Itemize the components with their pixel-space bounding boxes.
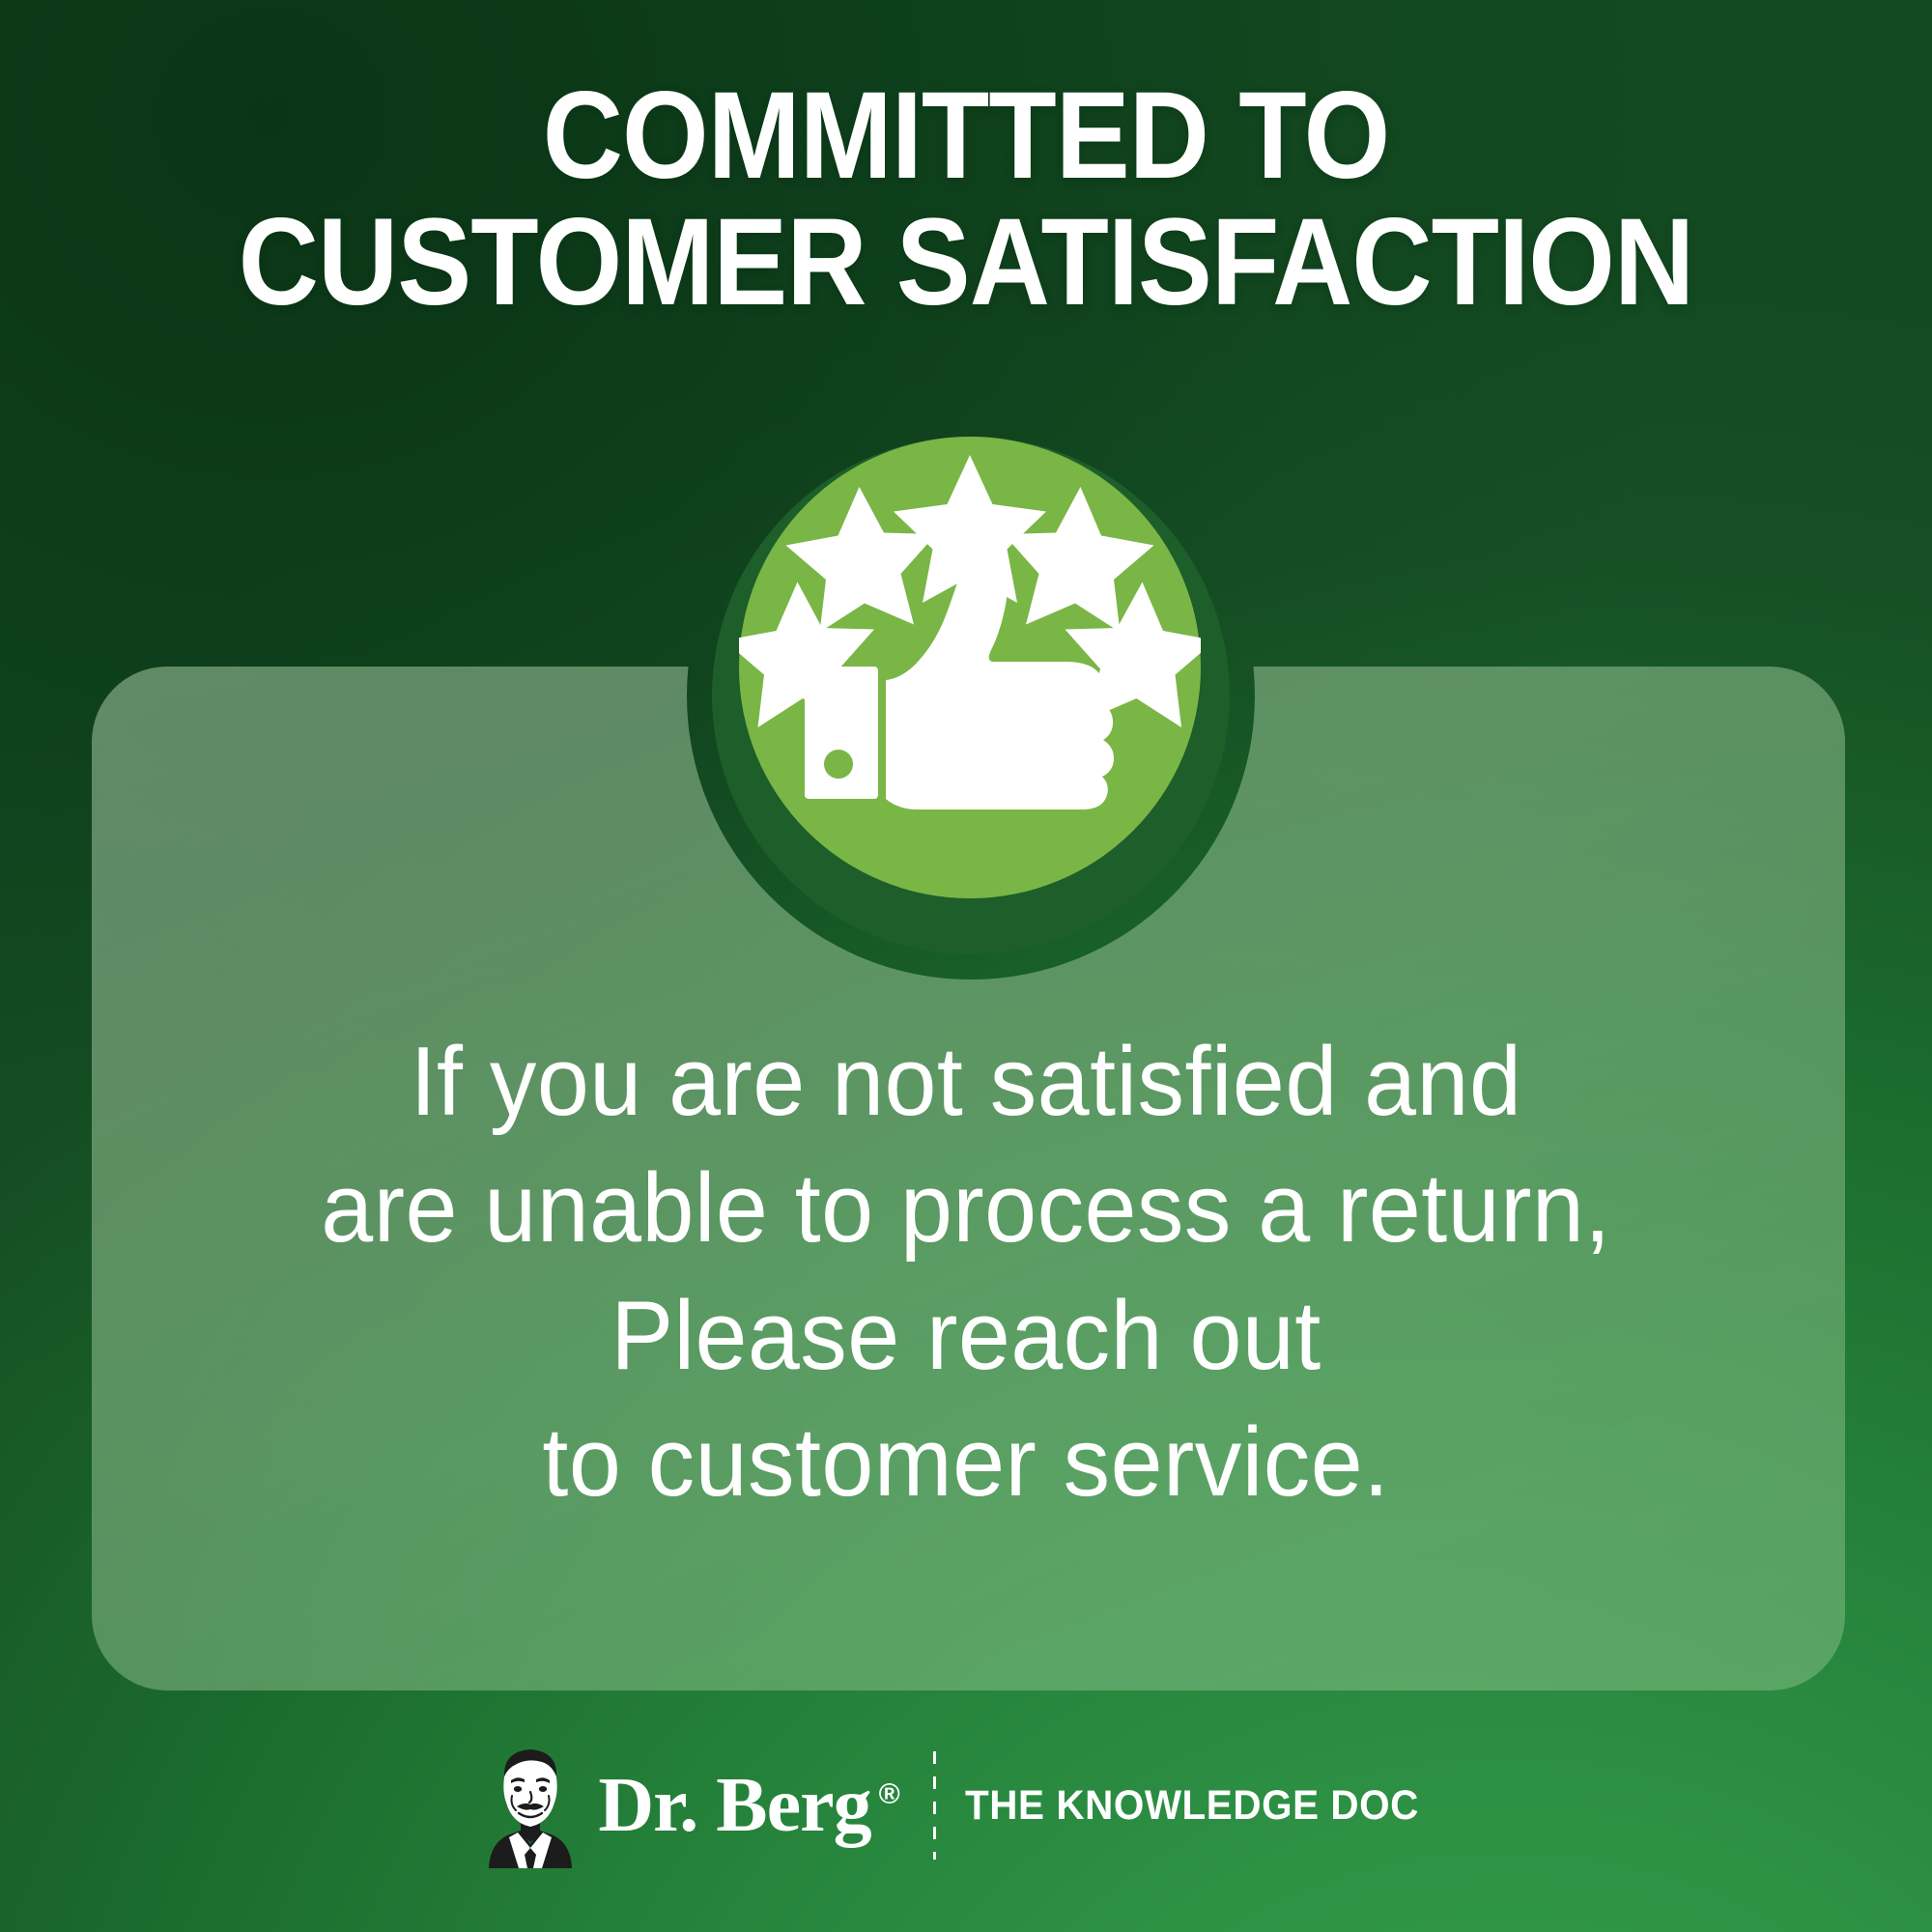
message-text: If you are not satisfied and are unable … xyxy=(178,1019,1754,1526)
brand-name: Dr. Berg xyxy=(598,1763,870,1848)
message-line-3: Please reach out xyxy=(178,1273,1754,1400)
message-line-2: are unable to process a return, xyxy=(178,1146,1754,1272)
message-line-4: to customer service. xyxy=(178,1400,1754,1526)
promo-poster: COMMITTED TO CUSTOMER SATISFACTION xyxy=(0,0,1932,1932)
brand-footer: Dr. Berg® THE KNOWLEDGE DOC xyxy=(0,1733,1932,1878)
thumbs-up-five-stars-icon xyxy=(739,437,1201,898)
satisfaction-badge xyxy=(712,437,1230,954)
dr-berg-portrait-icon xyxy=(484,1742,577,1869)
brand-wordmark: Dr. Berg® xyxy=(598,1767,899,1844)
page-title: COMMITTED TO CUSTOMER SATISFACTION xyxy=(97,73,1835,326)
registered-trademark-icon: ® xyxy=(879,1778,900,1810)
message-line-1: If you are not satisfied and xyxy=(178,1019,1754,1146)
cuff-button-icon xyxy=(824,750,853,779)
page-title-line-2: CUSTOMER SATISFACTION xyxy=(97,200,1835,327)
page-title-line-1: COMMITTED TO xyxy=(97,73,1835,200)
brand-tagline: THE KNOWLEDGE DOC xyxy=(965,1782,1419,1830)
dashed-vertical-divider-icon xyxy=(933,1751,936,1860)
